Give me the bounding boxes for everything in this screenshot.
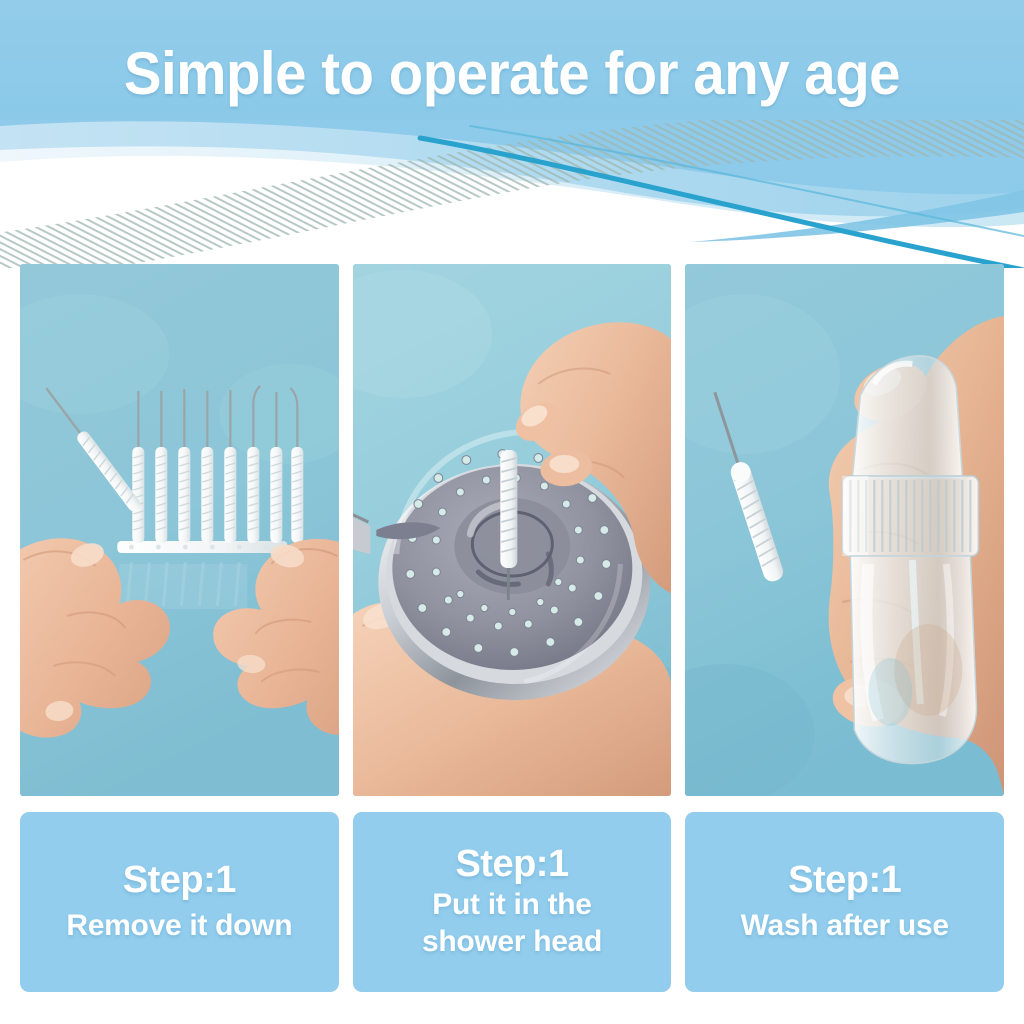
photo-panel-3 [685, 264, 1004, 796]
caption-box-2: Step:1 Put it in the shower head [353, 812, 672, 992]
caption-box-1: Step:1 Remove it down [20, 812, 339, 992]
wave-decoration [0, 120, 1024, 268]
step-label-2: Step:1 [455, 844, 568, 886]
step-label-3: Step:1 [788, 860, 901, 902]
header-banner: Simple to operate for any age [0, 0, 1024, 128]
photo-panel-1 [20, 264, 339, 796]
step-description-1: Remove it down [66, 908, 292, 945]
photo-panel-2 [353, 264, 672, 796]
infographic-page: Simple to operate for any age [0, 0, 1024, 1024]
photo-remove-brush [20, 264, 339, 796]
caption-box-3: Step:1 Wash after use [685, 812, 1004, 992]
step-description-3: Wash after use [741, 908, 949, 945]
step-description-2: Put it in the shower head [377, 887, 647, 960]
spray-bottle [843, 356, 979, 764]
page-title: Simple to operate for any age [31, 44, 994, 104]
caption-row: Step:1 Remove it down Step:1 Put it in t… [20, 812, 1004, 992]
photo-clean-shower-head [353, 264, 672, 796]
photo-panel-row [20, 264, 1004, 796]
photo-wash-after-use [685, 264, 1004, 796]
step-label-1: Step:1 [123, 860, 236, 902]
